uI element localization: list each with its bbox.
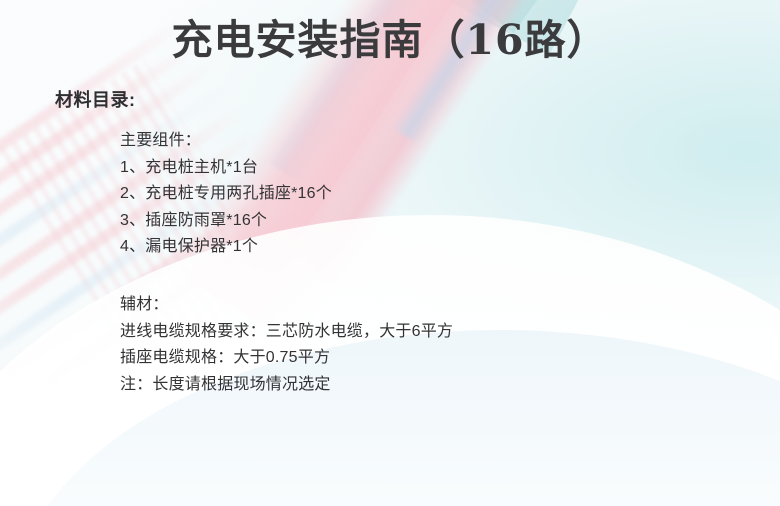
- main-component-item-2: 2、充电桩专用两孔插座*16个: [120, 181, 332, 208]
- slide-content: 充电安装指南（16路） 材料目录: 主要组件： 1、充电桩主机*1台 2、充电桩…: [0, 0, 780, 506]
- auxiliary-materials-block: 辅材： 进线电缆规格要求：三芯防水电缆，大于6平方 插座电缆规格：大于0.75平…: [120, 292, 453, 398]
- materials-list-heading: 材料目录:: [55, 86, 136, 112]
- slide-title: 充电安装指南（16路）: [0, 16, 780, 64]
- auxiliary-line-socket-cable-spec: 插座电缆规格：大于0.75平方: [120, 345, 453, 372]
- auxiliary-materials-label: 辅材：: [120, 292, 453, 319]
- main-component-item-4: 4、漏电保护器*1个: [120, 234, 332, 261]
- main-component-item-1: 1、充电桩主机*1台: [120, 155, 332, 182]
- main-components-label: 主要组件：: [120, 128, 332, 155]
- main-components-block: 主要组件： 1、充电桩主机*1台 2、充电桩专用两孔插座*16个 3、插座防雨罩…: [120, 128, 332, 261]
- auxiliary-line-incoming-cable-spec: 进线电缆规格要求：三芯防水电缆，大于6平方: [120, 319, 453, 346]
- auxiliary-line-note: 注：长度请根据现场情况选定: [120, 372, 453, 399]
- slide-canvas: 充电安装指南（16路） 材料目录: 主要组件： 1、充电桩主机*1台 2、充电桩…: [0, 0, 780, 506]
- main-component-item-3: 3、插座防雨罩*16个: [120, 208, 332, 235]
